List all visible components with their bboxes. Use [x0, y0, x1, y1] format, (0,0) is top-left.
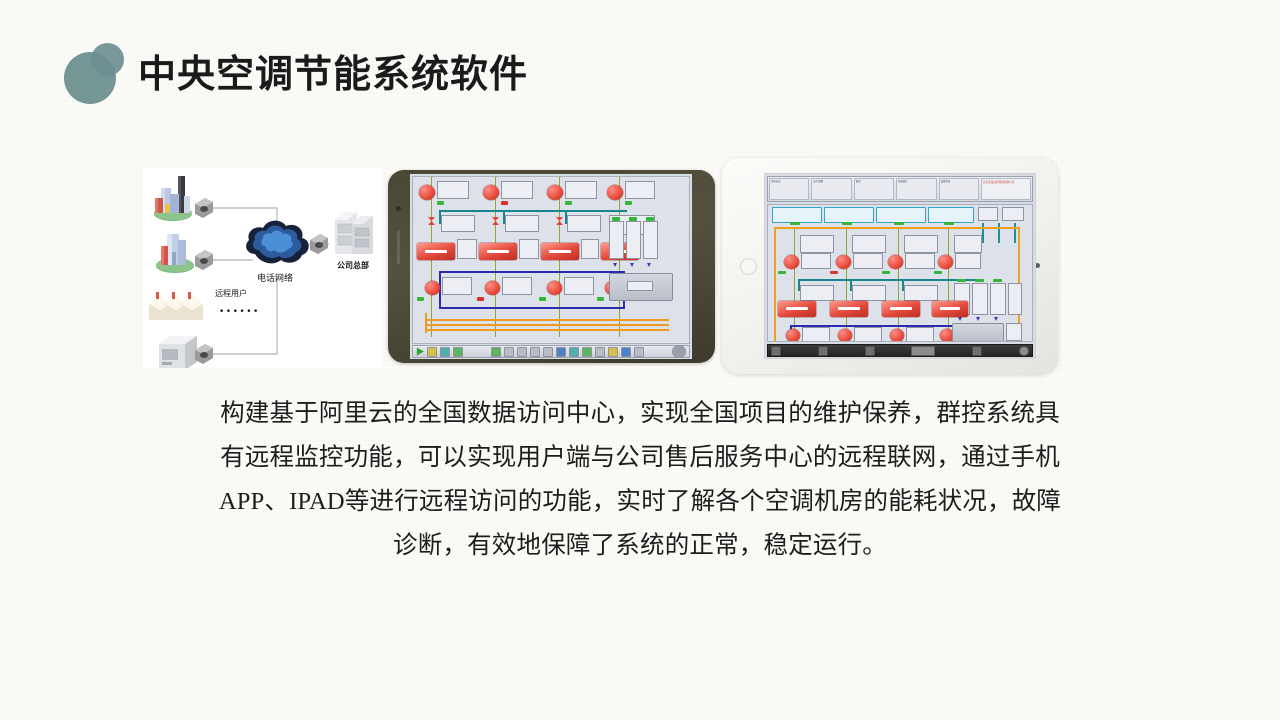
- print-icon[interactable]: [621, 347, 631, 357]
- logo-circle-small-icon: [91, 43, 124, 76]
- pump-icon: [786, 329, 800, 342]
- phone-speaker-icon: [397, 230, 400, 264]
- tablet-home-button[interactable]: [740, 258, 757, 275]
- pump-icon: [938, 255, 953, 269]
- exit-icon[interactable]: [634, 347, 644, 357]
- hmi-header-cell: 报警: [854, 178, 894, 200]
- smartphone-device: [388, 170, 715, 363]
- chart-icon[interactable]: [440, 347, 450, 357]
- pump-icon: [483, 185, 499, 200]
- pump-icon: [485, 281, 500, 295]
- pump-icon: [547, 281, 562, 295]
- pump-icon: [890, 329, 904, 342]
- hmi-diagram-area: [412, 176, 690, 344]
- tablet-screen[interactable]: 系统总览 运行参数 报警 能耗统计 设备状态 北京某某自控科技有限公司: [764, 173, 1036, 359]
- hmi-header-cell: 能耗统计: [896, 178, 936, 200]
- fan-icon[interactable]: [530, 347, 540, 357]
- network-topology-diagram: 电话网络 公司总部 远: [143, 168, 383, 368]
- hmi-header-cell: 设备状态: [939, 178, 979, 200]
- motor-icon[interactable]: [543, 347, 553, 357]
- refresh-icon[interactable]: [491, 347, 501, 357]
- home-icon[interactable]: [672, 345, 686, 358]
- gear-icon[interactable]: [972, 346, 982, 356]
- export-icon[interactable]: [582, 347, 592, 357]
- air-handler-icon: [952, 323, 1004, 342]
- pump-icon: [607, 185, 623, 200]
- slide-header: 中央空调节能系统软件: [0, 0, 1280, 130]
- pump-icon: [838, 329, 852, 342]
- svg-text:远程用户: 远程用户: [215, 288, 247, 298]
- hmi-schematic-tablet[interactable]: 系统总览 运行参数 报警 能耗统计 设备状态 北京某某自控科技有限公司: [765, 174, 1035, 358]
- hmi-header-cell: 运行参数: [811, 178, 851, 200]
- home-icon[interactable]: [1019, 346, 1029, 356]
- chiller-icon: [932, 301, 968, 317]
- caption-line: 构建基于阿里云的全国数据访问中心，实现全国项目的维护保养，群控系统具: [190, 392, 1090, 436]
- cooling-tower-icon: [772, 207, 822, 223]
- network-icon[interactable]: [569, 347, 579, 357]
- hmi-toolbar[interactable]: [412, 345, 690, 358]
- caption-line: 诊断，有效地保障了系统的正常，稳定运行。: [190, 524, 1090, 568]
- tool-icon[interactable]: [427, 347, 437, 357]
- chiller-icon: [778, 301, 816, 317]
- chiller-icon: [541, 243, 579, 260]
- pump-icon[interactable]: [517, 347, 527, 357]
- logo-mark: [62, 42, 134, 104]
- chiller-icon: [479, 243, 517, 260]
- hmi-brand-logo: 北京某某自控科技有限公司: [981, 178, 1031, 200]
- phone-screen[interactable]: [410, 174, 692, 359]
- hmi-toolbar[interactable]: [767, 344, 1033, 357]
- pump-icon: [547, 185, 563, 200]
- hmi-schematic-phone[interactable]: [410, 174, 692, 359]
- caption-line: APP、IPAD等进行远程访问的功能，实时了解各个空调机房的能耗状况，故障: [190, 480, 1090, 524]
- svg-text:公司总部: 公司总部: [337, 260, 369, 270]
- status-icon[interactable]: [911, 346, 935, 356]
- expand-icon[interactable]: [771, 346, 781, 356]
- tool-icon[interactable]: [865, 346, 875, 356]
- pump-icon: [419, 185, 435, 200]
- cooling-tower-icon: [876, 207, 926, 223]
- page-title: 中央空调节能系统软件: [138, 54, 528, 98]
- chiller-icon: [830, 301, 868, 317]
- valve-icon[interactable]: [504, 347, 514, 357]
- svg-text:电话网络: 电话网络: [257, 272, 293, 284]
- back-icon[interactable]: [818, 346, 828, 356]
- phone-camera-icon: [396, 206, 401, 211]
- trend-icon[interactable]: [453, 347, 463, 357]
- caption-line: 有远程监控功能，可以实现用户端与公司售后服务中心的远程联网，通过手机: [190, 436, 1090, 480]
- alarm-icon[interactable]: [556, 347, 566, 357]
- chiller-icon: [417, 243, 455, 260]
- play-icon[interactable]: [416, 348, 424, 356]
- pump-icon: [425, 281, 440, 295]
- pump-icon: [888, 255, 903, 269]
- chiller-icon: [882, 301, 920, 317]
- hmi-header-bar: 系统总览 运行参数 报警 能耗统计 设备状态 北京某某自控科技有限公司: [767, 176, 1033, 202]
- body-caption: 构建基于阿里云的全国数据访问中心，实现全国项目的维护保养，群控系统具 有远程监控…: [190, 392, 1090, 568]
- cooling-tower-icon: [824, 207, 874, 223]
- cooling-tower-icon: [928, 207, 974, 223]
- report-icon[interactable]: [608, 347, 618, 357]
- svg-text:••••••: ••••••: [219, 307, 260, 317]
- pump-icon: [836, 255, 851, 269]
- media-row: 电话网络 公司总部 远: [0, 150, 1280, 375]
- hmi-header-cell: 系统总览: [769, 178, 809, 200]
- hmi-diagram-area: [767, 204, 1033, 342]
- import-icon[interactable]: [595, 347, 605, 357]
- pump-icon: [784, 255, 799, 269]
- tablet-device: 系统总览 运行参数 报警 能耗统计 设备状态 北京某某自控科技有限公司: [722, 158, 1058, 374]
